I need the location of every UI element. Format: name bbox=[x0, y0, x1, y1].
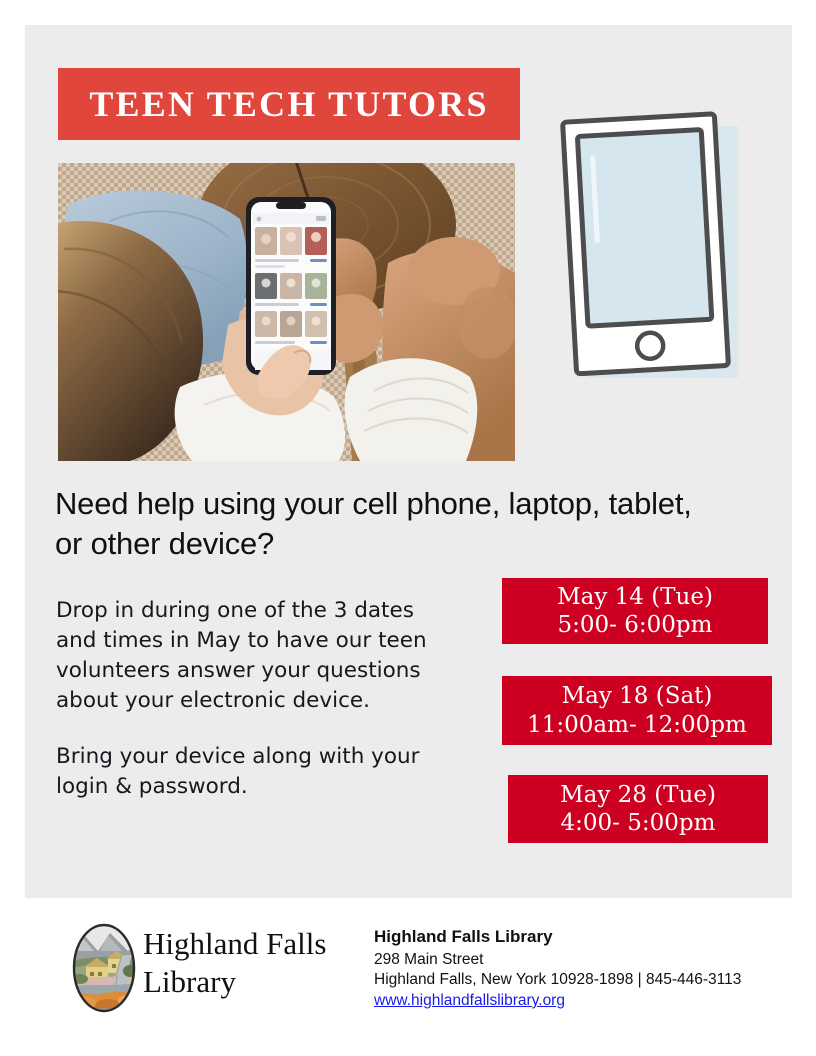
body-paragraph-2: Bring your device along with your login … bbox=[56, 742, 456, 802]
highland-falls-landscape-icon bbox=[70, 921, 138, 1015]
flyer-page: TEEN TECH TUTORS bbox=[0, 0, 816, 1056]
session-time-3: 4:00- 5:00pm bbox=[561, 809, 716, 837]
session-date-3: May 28 (Tue) bbox=[560, 781, 716, 809]
session-date-1: May 14 (Tue) bbox=[557, 583, 713, 611]
session-box-1: May 14 (Tue) 5:00- 6:00pm bbox=[502, 578, 768, 644]
session-date-2: May 18 (Sat) bbox=[562, 682, 713, 710]
hero-photo bbox=[58, 163, 515, 461]
session-time-1: 5:00- 6:00pm bbox=[558, 611, 713, 639]
contact-block: Highland Falls Library 298 Main Street H… bbox=[374, 927, 794, 1011]
tablet-illustration bbox=[548, 108, 753, 403]
tablet-icon bbox=[548, 108, 753, 403]
city-state-zip-phone: Highland Falls, New York 10928-1898 | 84… bbox=[374, 970, 794, 990]
wordmark-line-1: Highland Falls bbox=[143, 925, 373, 963]
website-link[interactable]: www.highlandfallslibrary.org bbox=[374, 991, 565, 1011]
session-time-2: 11:00am- 12:00pm bbox=[527, 711, 747, 739]
title-banner: TEEN TECH TUTORS bbox=[58, 68, 520, 140]
page-title: TEEN TECH TUTORS bbox=[89, 83, 488, 125]
street-address: 298 Main Street bbox=[374, 950, 794, 970]
library-logo-icon bbox=[70, 921, 138, 1015]
hero-photo-illustration bbox=[58, 163, 515, 461]
session-box-2: May 18 (Sat) 11:00am- 12:00pm bbox=[502, 676, 772, 745]
wordmark-line-2: Library bbox=[143, 963, 373, 1001]
library-wordmark: Highland Falls Library bbox=[143, 925, 373, 1001]
body-copy: Drop in during one of the 3 dates and ti… bbox=[56, 596, 456, 803]
session-box-3: May 28 (Tue) 4:00- 5:00pm bbox=[508, 775, 768, 843]
page-headline: Need help using your cell phone, laptop,… bbox=[55, 484, 715, 563]
body-paragraph-1: Drop in during one of the 3 dates and ti… bbox=[56, 596, 456, 716]
organization-name: Highland Falls Library bbox=[374, 927, 794, 947]
